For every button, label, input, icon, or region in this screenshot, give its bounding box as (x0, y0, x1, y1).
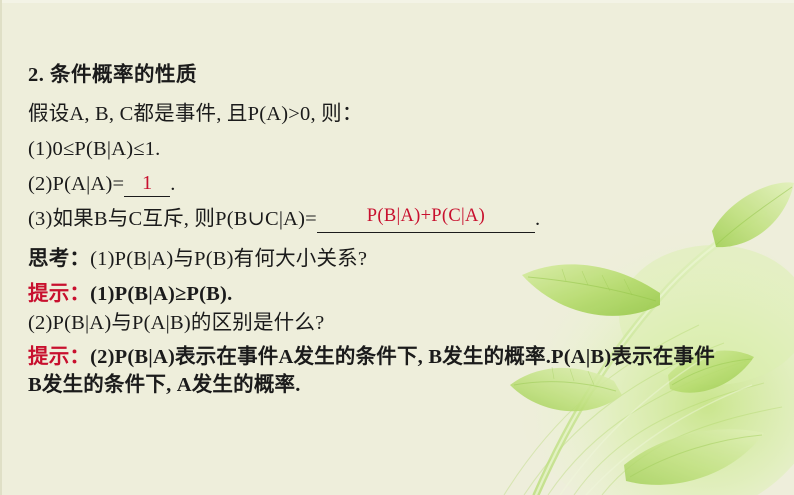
property-1: (1)0≤P(B|A)≤1. (28, 136, 160, 162)
property-3-prefix: (3)如果B与C互斥, 则P(B∪C|A)= (28, 208, 317, 230)
slide-canvas: 2. 条件概率的性质 假设A, B, C都是事件, 且P(A)>0, 则： (1… (0, 0, 794, 495)
hint-2-line-1: 提示：(2)P(B|A)表示在事件A发生的条件下, B发生的概率.P(A|B)表… (28, 344, 715, 370)
property-2: (2)P(A|A)=1. (28, 171, 176, 197)
property-3-suffix: . (535, 208, 540, 230)
hint-1: 提示：(1)P(B|A)≥P(B). (28, 281, 232, 307)
thinking-question-2: (2)P(B|A)与P(A|B)的区别是什么? (28, 310, 324, 336)
hint-1-label: 提示： (28, 283, 90, 305)
top-edge-highlight (0, 0, 794, 3)
thinking-question-1: 思考：(1)P(B|A)与P(B)有何大小关系? (28, 246, 367, 272)
property-2-blank: 1 (124, 172, 170, 197)
left-edge-rule (0, 0, 2, 495)
intro-line: 假设A, B, C都是事件, 且P(A)>0, 则： (28, 101, 363, 127)
hint-1-text: (1)P(B|A)≥P(B). (90, 283, 232, 305)
property-3-answer: P(B|A)+P(C|A) (367, 206, 485, 226)
property-2-prefix: (2)P(A|A)= (28, 173, 124, 195)
hint-2-label: 提示： (28, 346, 90, 368)
property-2-suffix: . (170, 173, 175, 195)
property-3-blank: P(B|A)+P(C|A) (317, 207, 535, 233)
thinking-question-1-text: (1)P(B|A)与P(B)有何大小关系? (90, 248, 367, 270)
thinking-label: 思考： (28, 248, 90, 270)
hint-2-line-2: B发生的条件下, A发生的概率. (28, 372, 301, 398)
property-3: (3)如果B与C互斥, 则P(B∪C|A)=P(B|A)+P(C|A). (28, 206, 540, 233)
hint-2-text-line-1: (2)P(B|A)表示在事件A发生的条件下, B发生的概率.P(A|B)表示在事… (90, 346, 715, 368)
property-2-answer: 1 (142, 172, 152, 194)
section-heading: 2. 条件概率的性质 (28, 62, 197, 88)
